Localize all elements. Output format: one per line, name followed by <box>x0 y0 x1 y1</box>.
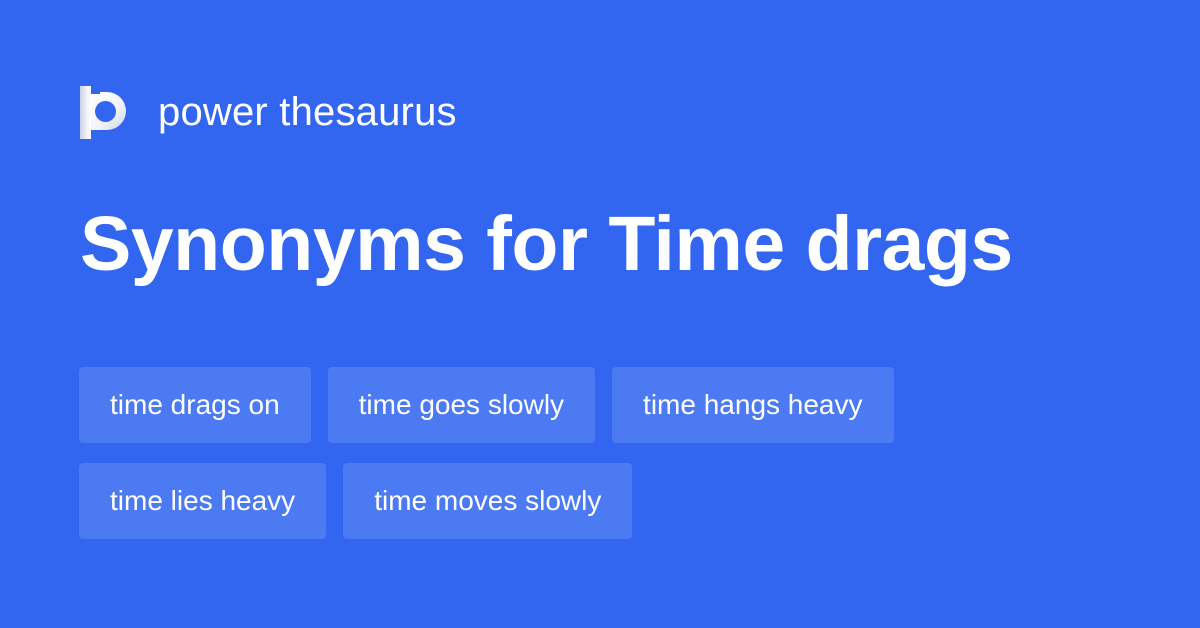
synonym-chip[interactable]: time goes slowly <box>328 367 595 443</box>
synonym-chip[interactable]: time hangs heavy <box>612 367 893 443</box>
power-thesaurus-b-logo-icon <box>80 86 126 139</box>
synonym-chip[interactable]: time drags on <box>79 367 311 443</box>
page-title: Synonyms for Time drags <box>80 196 1140 292</box>
social-share-card: power thesaurus Synonyms for Time drags … <box>0 0 1200 628</box>
brand-header[interactable]: power thesaurus <box>80 84 457 140</box>
brand-name: power thesaurus <box>158 92 457 132</box>
synonym-chip-list: time drags on time goes slowly time hang… <box>79 367 1129 539</box>
synonym-chip[interactable]: time moves slowly <box>343 463 632 539</box>
synonym-chip[interactable]: time lies heavy <box>79 463 326 539</box>
